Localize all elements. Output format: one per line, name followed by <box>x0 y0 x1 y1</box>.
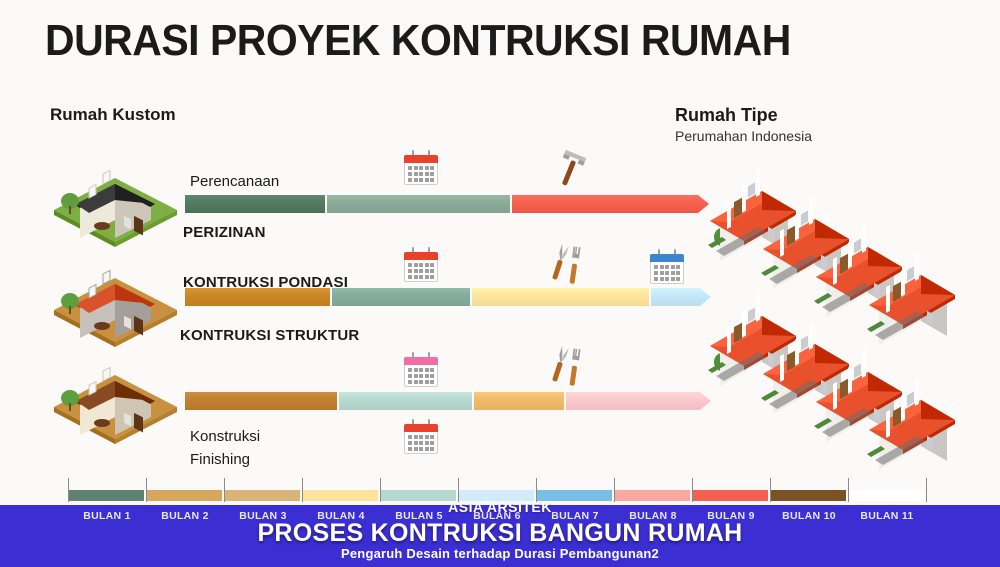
phase-label-0: Perencanaan <box>190 173 279 190</box>
phase-label-1: PERIZINAN <box>183 224 266 241</box>
bar-segment <box>512 195 709 213</box>
terrace-row-bottom <box>700 288 1000 483</box>
calendar-icon <box>404 153 438 185</box>
phase-label-5: Finishing <box>190 451 250 468</box>
house-custom-finished <box>48 148 183 253</box>
tools-icon <box>548 243 590 292</box>
column-subheading-right: Perumahan Indonesia <box>675 128 812 144</box>
bar-pondasi <box>185 288 705 306</box>
banner-subtitle: Pengaruh Desain terhadap Durasi Pembangu… <box>0 546 1000 561</box>
phase-label-4: Konstruksi <box>190 428 260 445</box>
house-under-construction <box>48 248 183 353</box>
house-simple <box>48 345 183 450</box>
bar-segment <box>185 392 337 410</box>
hammer-icon <box>550 148 590 195</box>
bar-segment <box>327 195 510 213</box>
bar-segment <box>566 392 711 410</box>
column-heading-right: Rumah Tipe <box>675 105 778 126</box>
brand-watermark: ASIA ARSITEK <box>0 499 1000 515</box>
bar-struktur <box>185 392 705 410</box>
banner-title: PROSES KONTRUKSI BANGUN RUMAH <box>0 519 1000 548</box>
calendar-icon <box>404 355 438 387</box>
column-heading-left: Rumah Kustom <box>50 105 176 125</box>
bar-segment <box>474 392 564 410</box>
calendar-icon <box>404 250 438 282</box>
phase-label-3: KONTRUKSI STRUKTUR <box>180 327 359 344</box>
bar-segment <box>339 392 472 410</box>
bar-segment <box>332 288 470 306</box>
page-title: DURASI PROYEK KONTRUKSI RUMAH <box>45 16 791 66</box>
calendar-icon <box>650 252 684 284</box>
infographic-canvas: DURASI PROYEK KONTRUKSI RUMAH Rumah Kust… <box>0 0 1000 567</box>
bar-segment <box>185 288 330 306</box>
tools-icon <box>548 345 590 394</box>
calendar-icon <box>404 422 438 454</box>
bar-perencanaan <box>185 195 705 213</box>
bar-segment <box>185 195 325 213</box>
